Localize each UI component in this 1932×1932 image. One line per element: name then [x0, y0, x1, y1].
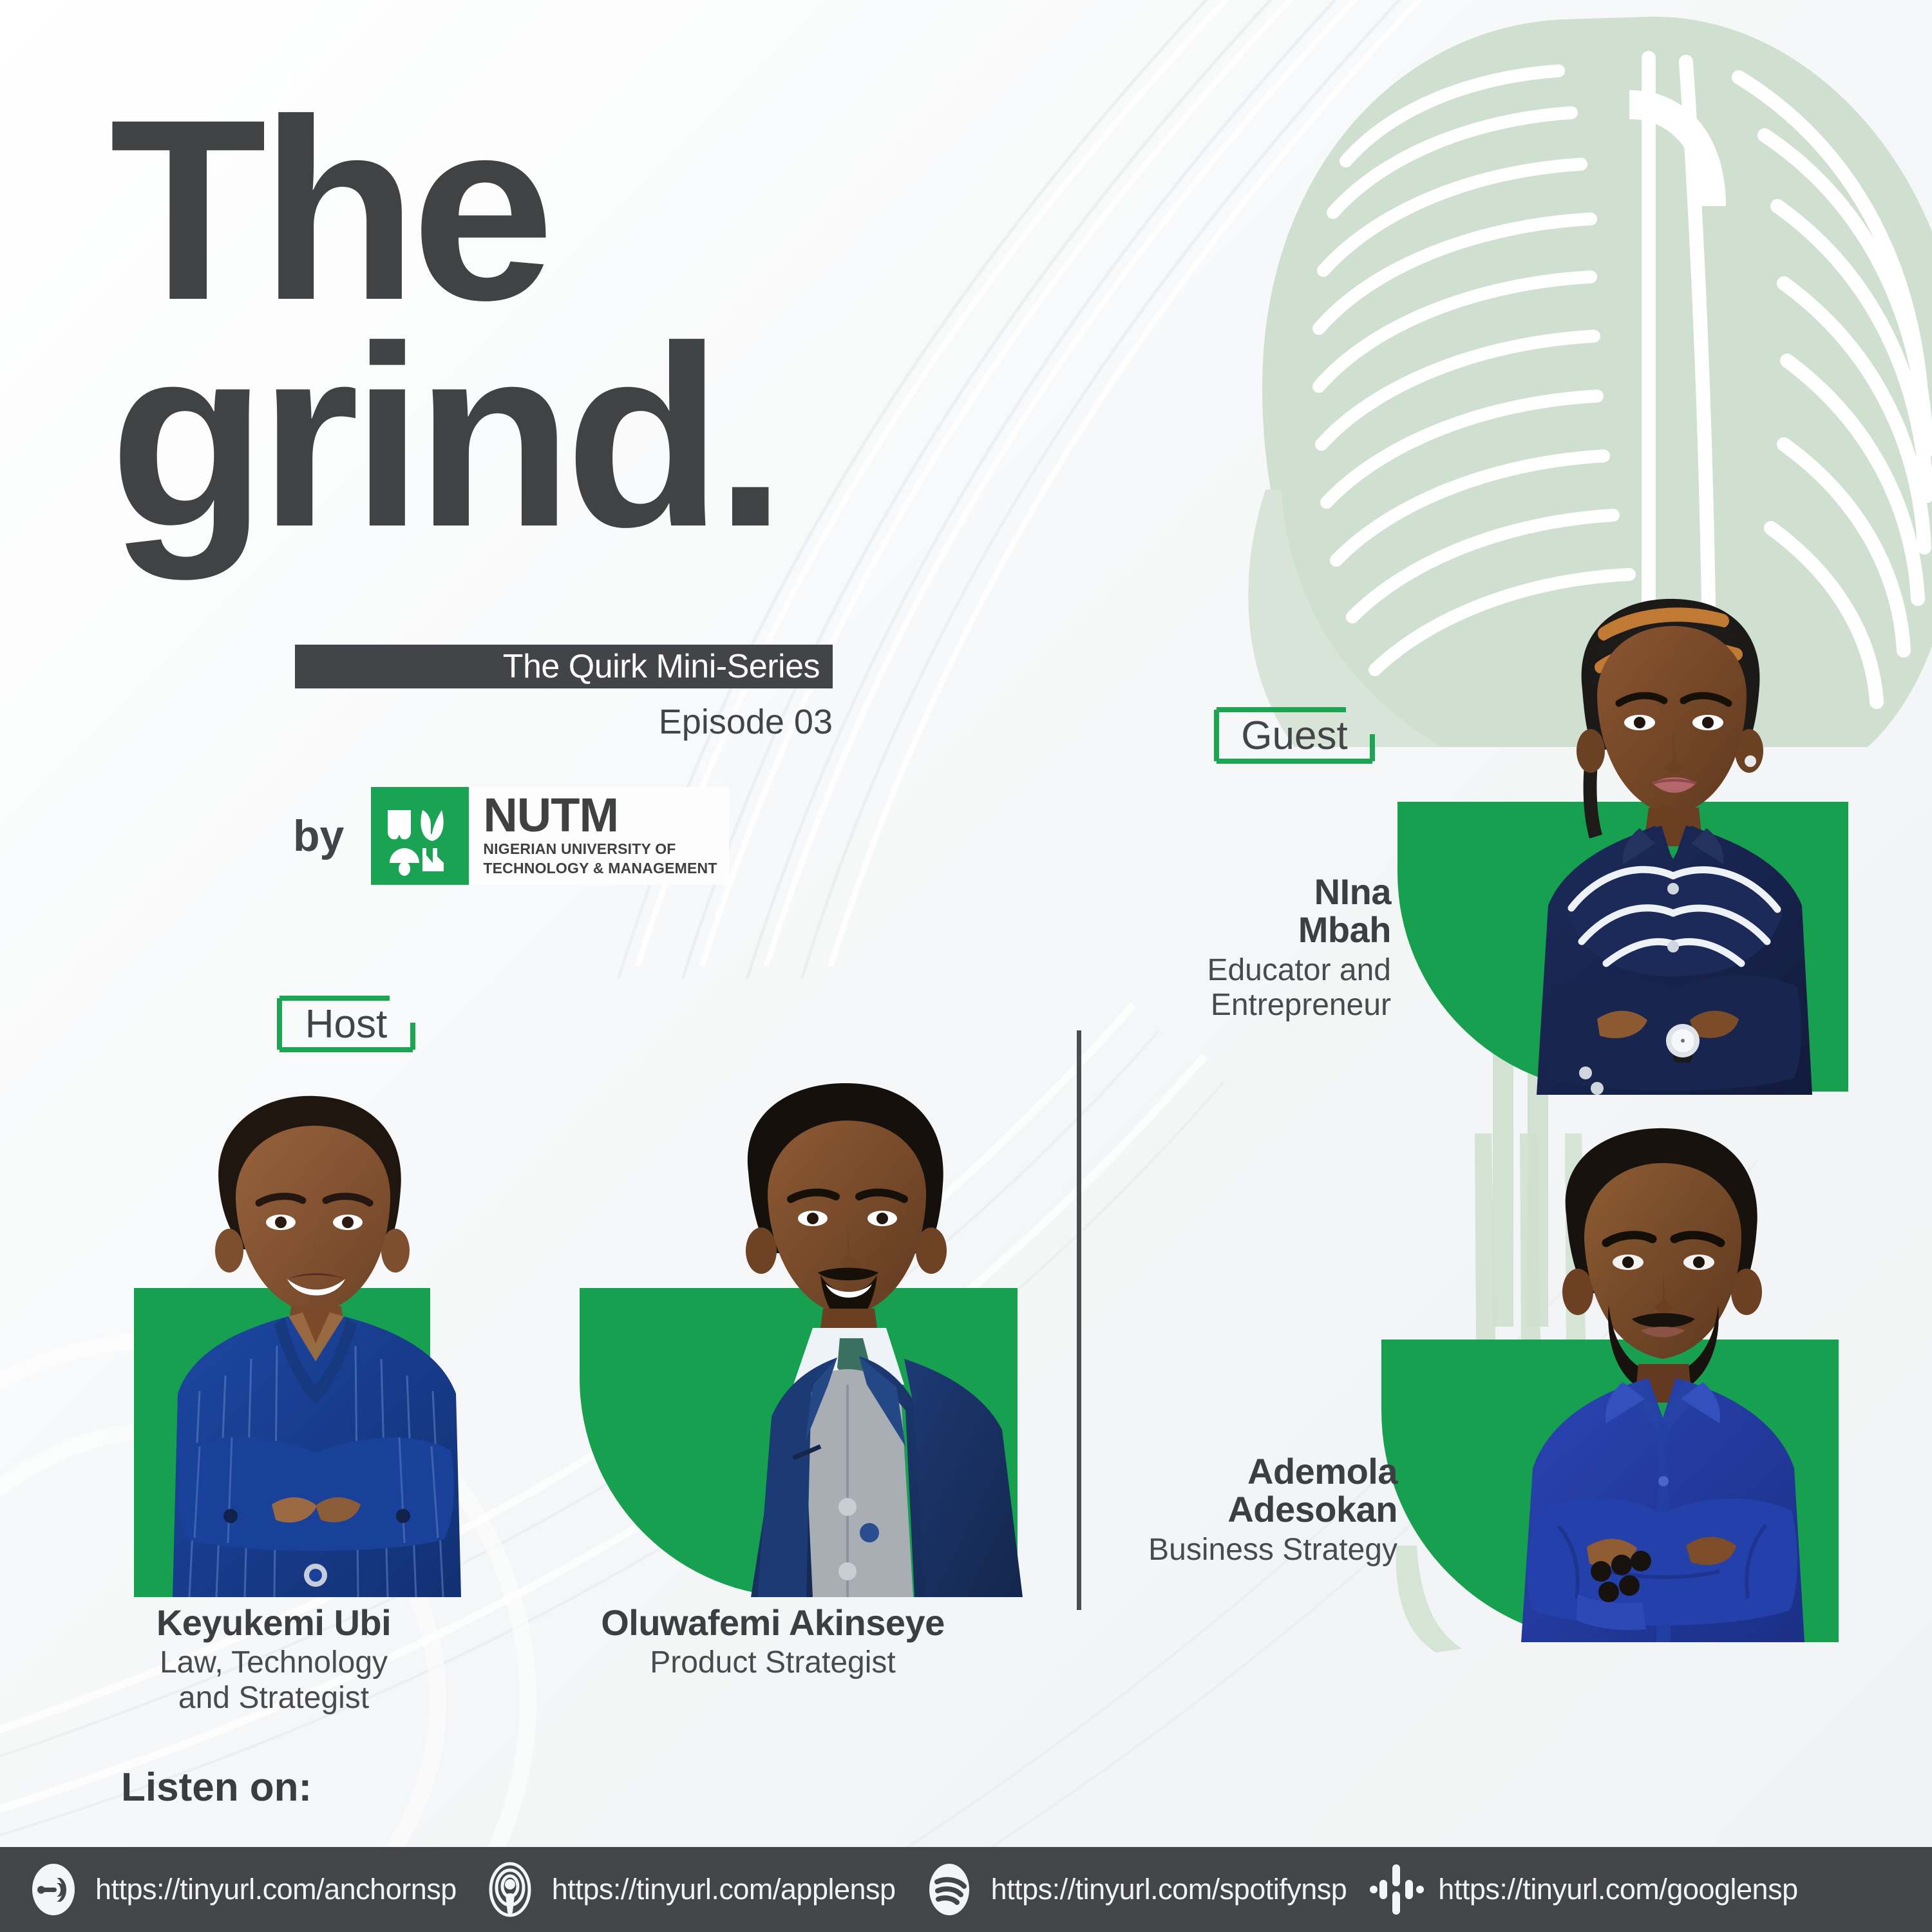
- host-1-namecard: Keyukemi Ubi Law, Technology and Strateg…: [97, 1604, 451, 1716]
- apple-podcasts-icon: [482, 1862, 538, 1917]
- host-2-portrait: [644, 1082, 1043, 1597]
- spotify-link[interactable]: https://tinyurl.com/spotifynsp: [922, 1847, 1347, 1932]
- apple-podcasts-link[interactable]: https://tinyurl.com/applensp: [482, 1847, 896, 1932]
- series-label: The Quirk Mini-Series: [503, 647, 820, 686]
- guest-label-badge: Guest: [1214, 707, 1375, 764]
- guest-2-name-line-2: Adesokan: [1121, 1490, 1397, 1528]
- guest-label-text: Guest: [1231, 713, 1358, 759]
- title-line-1: The: [109, 97, 1011, 323]
- google-podcasts-url: https://tinyurl.com/googlensp: [1438, 1873, 1797, 1906]
- guest-1-name-line-1: NIna: [1133, 873, 1391, 911]
- guest-2-namecard: Ademola Adesokan Business Strategy: [1121, 1452, 1397, 1567]
- host-2-name: Oluwafemi Akinseye: [541, 1604, 1005, 1642]
- google-podcasts-link[interactable]: https://tinyurl.com/googlensp: [1368, 1847, 1797, 1932]
- episode-label: Episode 03: [0, 702, 833, 742]
- section-divider: [1077, 1030, 1081, 1610]
- guest-2-name-line-1: Ademola: [1121, 1452, 1397, 1490]
- host-1-name: Keyukemi Ubi: [97, 1604, 451, 1642]
- page-title: The grind.: [109, 97, 1011, 550]
- anchor-fm-icon: [26, 1862, 81, 1917]
- listen-on-label: Listen on:: [121, 1765, 312, 1810]
- host-2-namecard: Oluwafemi Akinseye Product Strategist: [541, 1604, 1005, 1681]
- host-1-portrait: [122, 1088, 509, 1597]
- anchor-fm-link[interactable]: https://tinyurl.com/anchornsp: [26, 1847, 457, 1932]
- host-1-role-line-2: and Strategist: [97, 1681, 451, 1716]
- guest-1-role-line-2: Entrepreneur: [1133, 988, 1391, 1023]
- nutm-sub-line-2: TECHNOLOGY & MANAGEMENT: [483, 859, 717, 878]
- credit-row: by NUTM: [293, 787, 729, 885]
- podcast-poster: The grind. The Quirk Mini-Series Episode…: [0, 0, 1932, 1932]
- google-podcasts-icon: [1368, 1862, 1424, 1917]
- series-bar: The Quirk Mini-Series: [295, 645, 833, 688]
- title-line-2: grind.: [109, 323, 1011, 550]
- by-label: by: [293, 811, 344, 861]
- guest-2-portrait: [1449, 1121, 1874, 1642]
- nutm-wordmark: NUTM: [483, 794, 717, 837]
- nutm-sub-line-1: NIGERIAN UNIVERSITY OF: [483, 840, 717, 858]
- nutm-mark-icon: [371, 787, 469, 885]
- footer-links-bar: https://tinyurl.com/anchornsp https://ti…: [0, 1847, 1932, 1932]
- host-2-role-line-1: Product Strategist: [541, 1645, 1005, 1681]
- guest-1-name-line-2: Mbah: [1133, 911, 1391, 949]
- guest-1-portrait: [1468, 586, 1880, 1095]
- host-label-text: Host: [295, 1001, 397, 1047]
- host-label-badge: Host: [277, 996, 415, 1052]
- host-1-role-line-1: Law, Technology: [97, 1645, 451, 1681]
- spotify-url: https://tinyurl.com/spotifynsp: [991, 1873, 1347, 1906]
- guest-1-namecard: NIna Mbah Educator and Entrepreneur: [1133, 873, 1391, 1023]
- guest-2-role-line-1: Business Strategy: [1121, 1533, 1397, 1568]
- guest-1-role-line-1: Educator and: [1133, 953, 1391, 989]
- anchor-fm-url: https://tinyurl.com/anchornsp: [95, 1873, 457, 1906]
- nutm-logo: NUTM NIGERIAN UNIVERSITY OF TECHNOLOGY &…: [371, 787, 728, 885]
- apple-podcasts-url: https://tinyurl.com/applensp: [552, 1873, 896, 1906]
- spotify-icon: [922, 1862, 977, 1917]
